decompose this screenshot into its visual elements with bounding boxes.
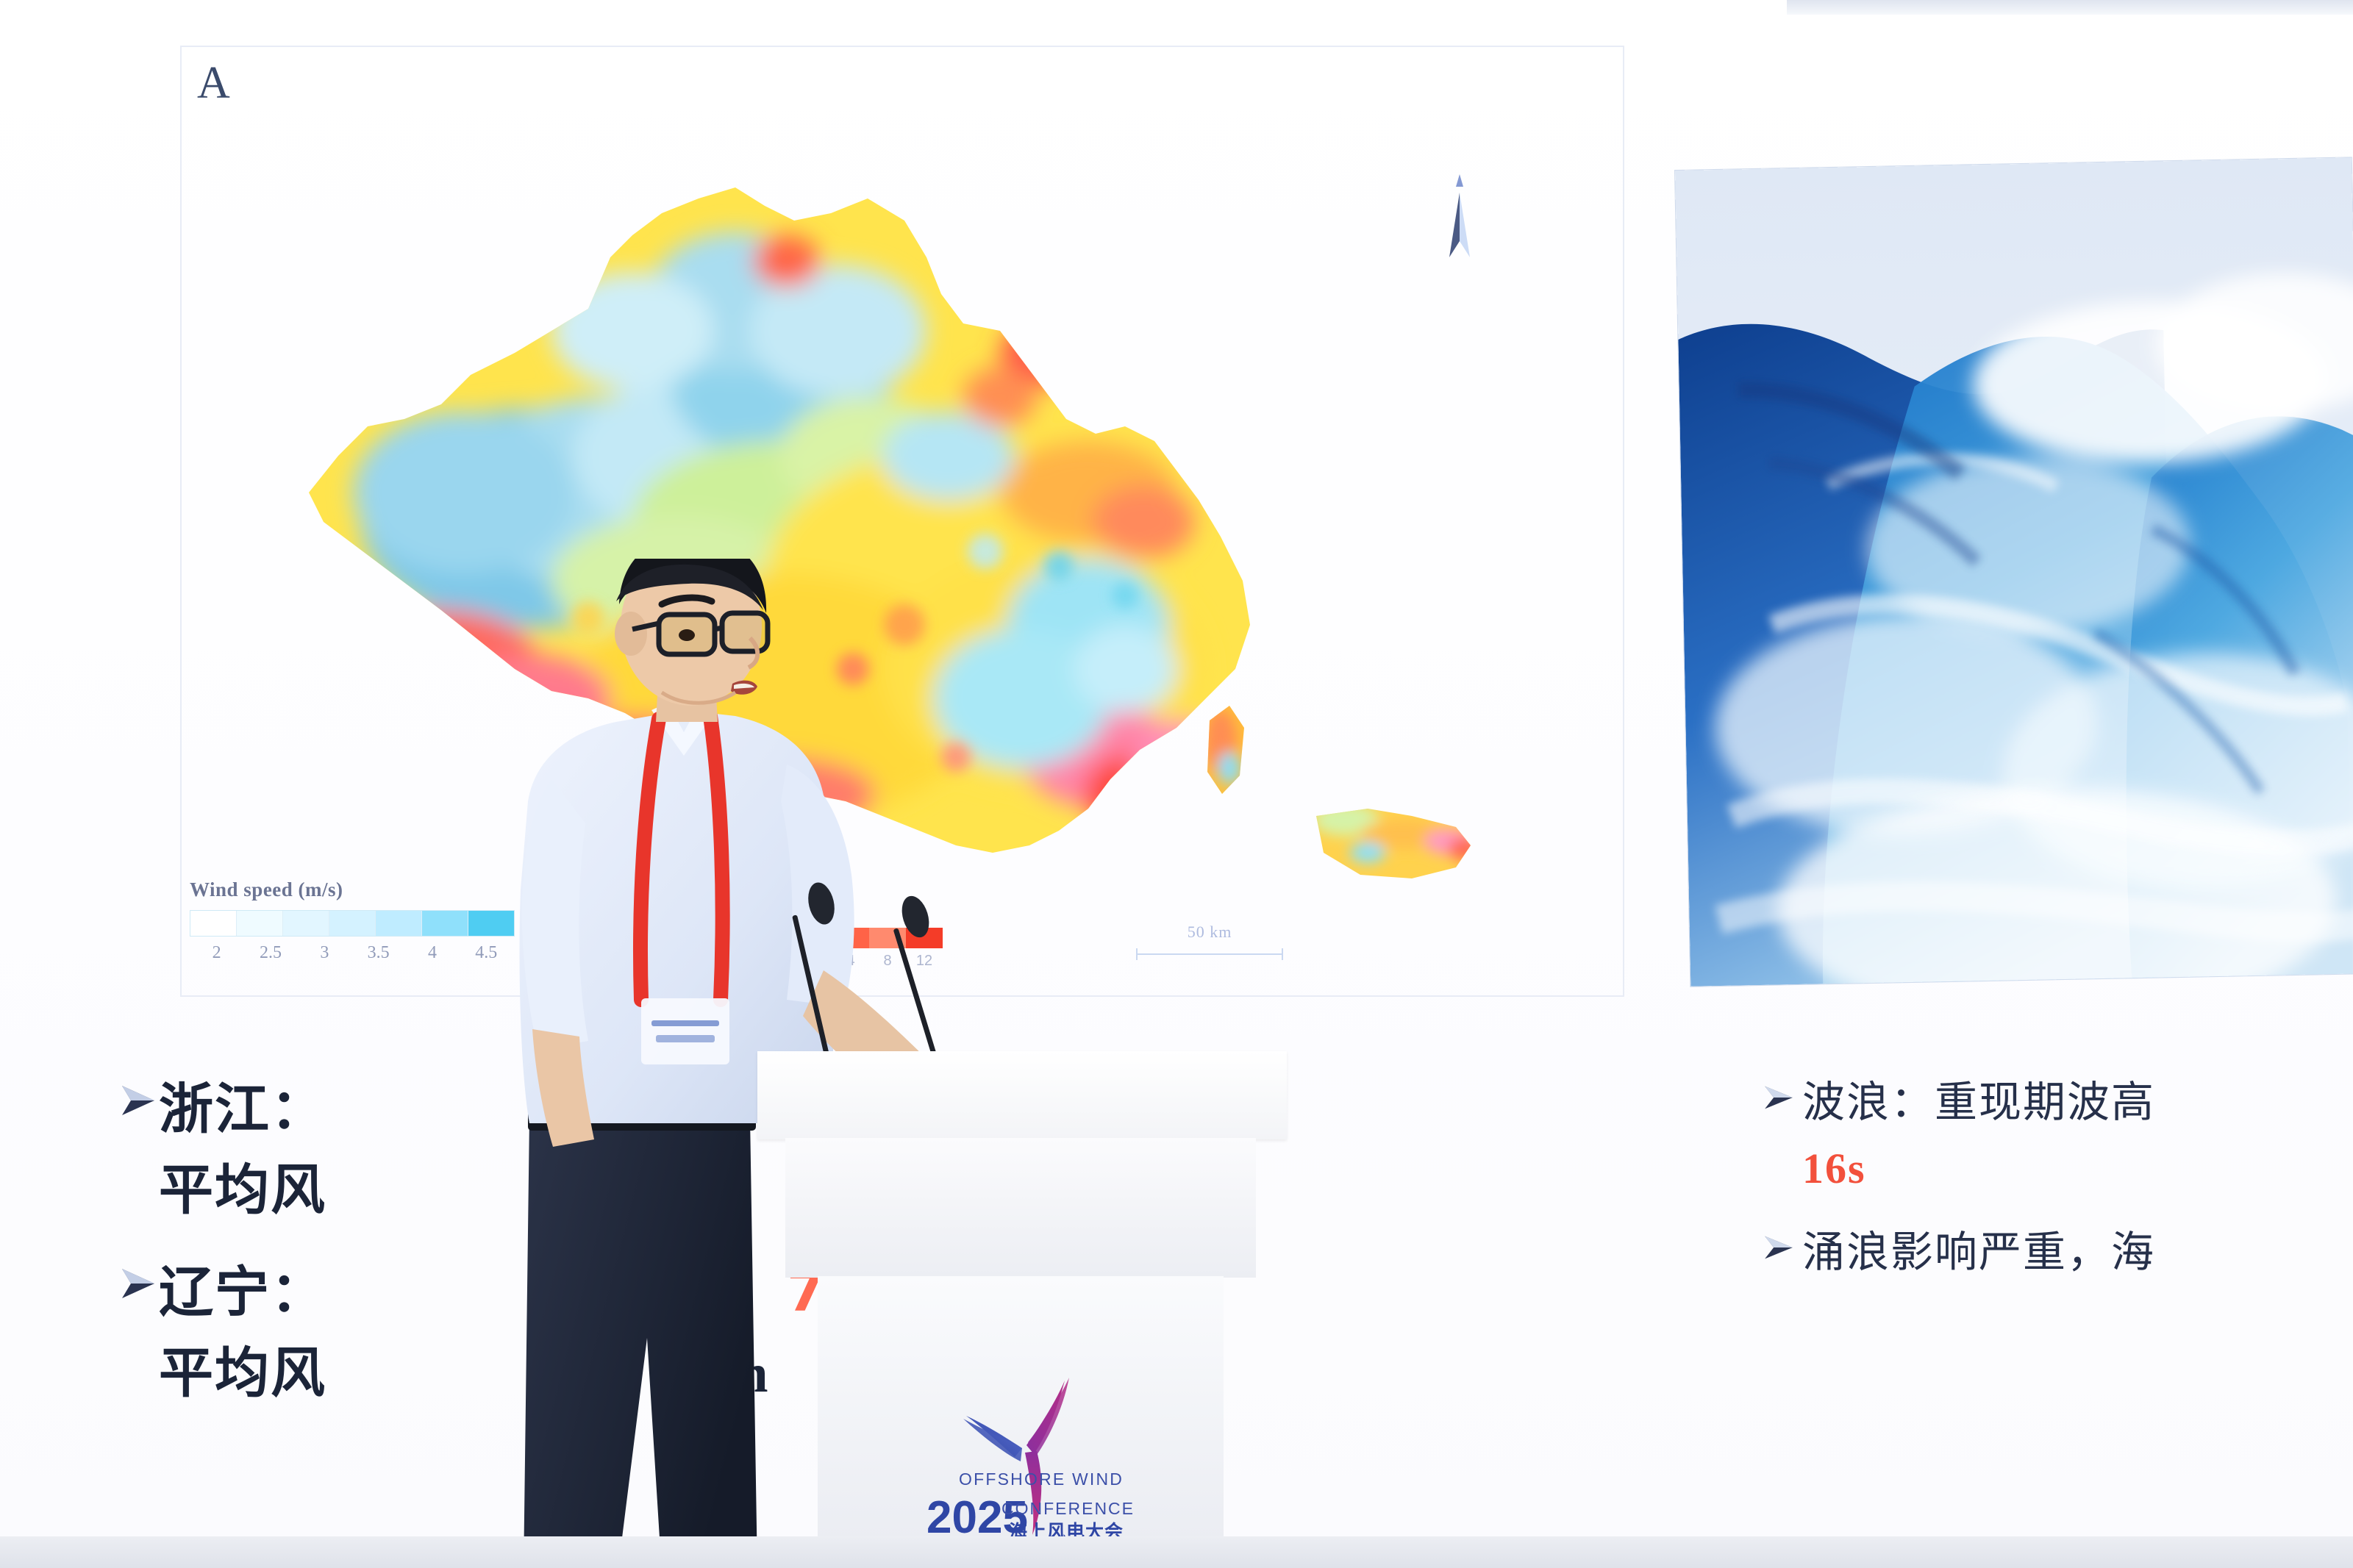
conference-logo: OFFSHORE WIND 2025 CONFERENCE 海上风电大会 bbox=[912, 1345, 1140, 1558]
podium: OFFSHORE WIND 2025 CONFERENCE 海上风电大会 bbox=[757, 1051, 1287, 1568]
bullet-text-plain: 辽宁： bbox=[159, 1261, 326, 1324]
wave-illustration bbox=[1675, 157, 2353, 986]
legend-tick: 2.5 bbox=[243, 943, 297, 963]
ocean-wave-photo bbox=[1675, 157, 2353, 986]
scale-label: 50 km bbox=[1136, 923, 1283, 942]
presentation-scene: A bbox=[0, 0, 2353, 1568]
bullet-line: 涌浪影响严重，海 bbox=[1802, 1220, 2155, 1286]
podium-top-surface bbox=[757, 1051, 1287, 1139]
bullet-text-plain-2: 平均风 bbox=[159, 1159, 326, 1222]
bullet-line-highlight: 16s bbox=[1802, 1136, 2155, 1202]
bullet-text-plain: 浙江： bbox=[159, 1078, 326, 1141]
north-arrow-icon bbox=[1427, 171, 1493, 281]
logo-conference: CONFERENCE bbox=[1001, 1499, 1135, 1518]
arrow-bullet-icon bbox=[118, 1080, 159, 1125]
panel-label-a: A bbox=[197, 57, 231, 110]
legend-tick: 3.5 bbox=[351, 943, 405, 963]
stage-floor bbox=[0, 1536, 2353, 1568]
screen-top-edge bbox=[1787, 0, 2353, 15]
arrow-bullet-icon bbox=[118, 1263, 159, 1308]
arrow-bullet-icon bbox=[1761, 1230, 1802, 1269]
bullet-item-wave: 波浪：重现期波高 16s bbox=[1761, 1070, 2353, 1202]
podium-upper-body bbox=[785, 1138, 1256, 1278]
arrow-bullet-icon bbox=[1761, 1080, 1802, 1119]
bullet-item-swell: 涌浪影响严重，海 bbox=[1761, 1220, 2353, 1286]
scale-line bbox=[1136, 953, 1283, 955]
legend-tick: 2 bbox=[190, 943, 243, 963]
legend-tick: 3 bbox=[298, 943, 351, 963]
logo-offshore-wind: OFFSHORE WIND bbox=[959, 1469, 1124, 1489]
map-scale-bar: 50 km bbox=[1136, 923, 1283, 955]
bullet-line: 波浪：重现期波高 bbox=[1802, 1070, 2155, 1136]
right-bullet-list: 波浪：重现期波高 16s 涌浪影响严重，海 bbox=[1761, 1070, 2353, 1296]
bullet-text-plain-2: 平均风 bbox=[159, 1342, 326, 1405]
